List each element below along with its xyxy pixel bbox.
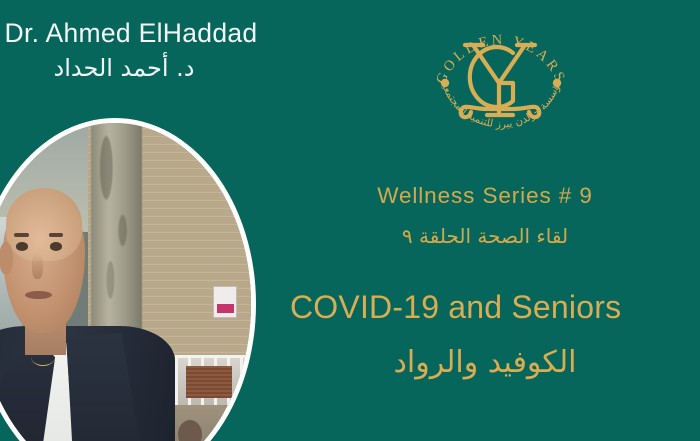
speaker-portrait-frame [0, 118, 256, 441]
speaker-name-arabic: د. أحمد الحداد [0, 52, 262, 86]
photo-tree-trunk [91, 123, 143, 347]
topic-title-english: COVID-19 and Seniors [290, 289, 700, 326]
photo-eyebrow-right [49, 233, 64, 237]
speaker-name-block: Dr. Ahmed ElHaddad د. أحمد الحداد [0, 18, 262, 86]
photo-background-person-head [178, 420, 202, 441]
photo-eyebrow-left [14, 233, 29, 237]
series-label-english: Wellness Series # 9 [270, 183, 700, 209]
photo-bench [186, 366, 232, 399]
speaker-portrait-photo [0, 123, 251, 441]
golden-years-logo: GOLDEN YEARS مؤسسة جولدن ييرز للتنمية ال… [427, 3, 575, 155]
presentation-slide: Dr. Ahmed ElHaddad د. أحمد الحداد [0, 0, 700, 441]
logo-dot-left [441, 79, 449, 87]
series-label-arabic: لقاء الصحة الحلقة ٩ [270, 224, 700, 248]
photo-wall-sign [213, 286, 237, 319]
logo-dot-right [553, 79, 561, 87]
speaker-name-english: Dr. Ahmed ElHaddad [0, 18, 262, 48]
topic-title-arabic: الكوفيد والرواد [270, 345, 700, 380]
photo-nose [32, 253, 43, 278]
photo-ear [0, 242, 13, 275]
